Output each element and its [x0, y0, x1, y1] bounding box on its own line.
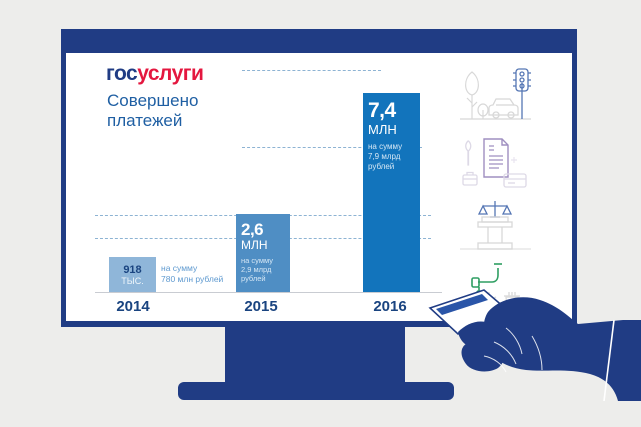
bush-icon — [478, 104, 488, 119]
bar-label-2016: 7,4 МЛН на сумму 7,9 млрд рублей — [368, 100, 420, 172]
logo-text-uslugi: услуги — [137, 62, 203, 85]
car-icon — [489, 99, 518, 118]
bar-unit-2014: ТЫС. — [111, 276, 154, 286]
bar-value-2014: 918 — [111, 264, 154, 276]
pedestal-icon — [478, 217, 512, 249]
document-icon — [484, 139, 508, 177]
infographic-scene: госуслуги Совершено платежей 918 ТЫС. на… — [0, 0, 641, 427]
hand-with-card — [418, 276, 641, 401]
page-title: Совершено платежей — [107, 91, 198, 131]
pen-icon — [466, 141, 471, 165]
axis-label-2016: 2016 — [355, 298, 425, 315]
monitor-stand-neck — [225, 327, 405, 383]
service-icons-column — [458, 65, 533, 309]
bar-sublabel-2015: на сумму 2,9 млрд рублей — [241, 256, 289, 283]
bar-sublabel-2016: на сумму 7,9 млрд рублей — [368, 142, 420, 172]
sparkle-icon — [511, 157, 517, 163]
icon-group-documents — [458, 135, 533, 195]
logo-text-gos: гос — [106, 62, 137, 85]
icon-group-justice — [458, 195, 533, 257]
axis-label-2014: 2014 — [98, 298, 168, 315]
bar-label-2015: 2,6 МЛН на сумму 2,9 млрд рублей — [241, 221, 289, 283]
bar-label-2014: 918 ТЫС. — [111, 264, 154, 286]
scales-of-justice-icon — [479, 201, 511, 217]
gosuslugi-logo: госуслуги — [106, 62, 203, 86]
traffic-light-icon — [513, 69, 531, 119]
axis-baseline — [95, 292, 442, 293]
bar-value-2015: 2,6 — [241, 221, 289, 238]
gridline — [242, 70, 381, 71]
briefcase-icon — [463, 173, 477, 186]
monitor-stand-base — [178, 382, 454, 400]
axis-label-2015: 2015 — [226, 298, 296, 315]
bar-unit-2015: МЛН — [241, 239, 289, 252]
bar-unit-2016: МЛН — [368, 122, 420, 137]
icon-group-transport — [458, 65, 533, 127]
bar-value-2016: 7,4 — [368, 100, 420, 121]
tree-icon — [466, 72, 479, 119]
